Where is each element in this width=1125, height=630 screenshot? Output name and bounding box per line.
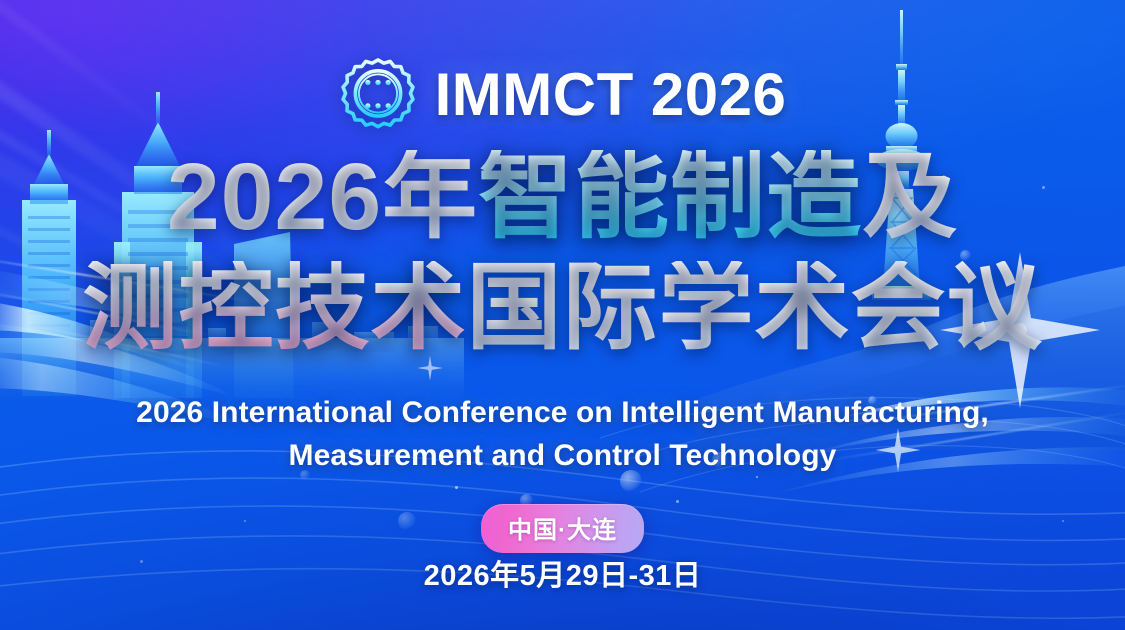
logo-row: IMMCT 2026 [0,56,1125,134]
brand-title: IMMCT 2026 [435,65,787,125]
title-line-2: 测控技术国际学术会议 [0,261,1125,356]
subtitle-line-2: Measurement and Control Technology [0,435,1125,478]
gear-circuit-icon [339,56,417,134]
title-seg: 2026年 [167,150,478,245]
venue-badge: 中国·大连 [481,504,644,553]
subtitle-line-1: 2026 International Conference on Intelli… [0,392,1125,435]
title-seg: 国际学术会议 [467,261,1043,356]
title-line-1: 2026年智能制造及 [0,150,1125,245]
banner-content: IMMCT 2026 2026年智能制造及 测控技术国际学术会议 2026 In… [0,0,1125,630]
main-title: 2026年智能制造及 测控技术国际学术会议 [0,150,1125,356]
conference-date: 2026年5月29日-31日 [0,552,1125,594]
title-seg: 智能制造 [478,150,862,245]
conference-banner: IMMCT 2026 2026年智能制造及 测控技术国际学术会议 2026 In… [0,0,1125,630]
title-seg: 及 [862,150,958,245]
title-seg: 测控技术 [82,261,466,356]
english-subtitle: 2026 International Conference on Intelli… [0,392,1125,477]
venue-badge-wrap: 中国·大连 [0,504,1125,553]
